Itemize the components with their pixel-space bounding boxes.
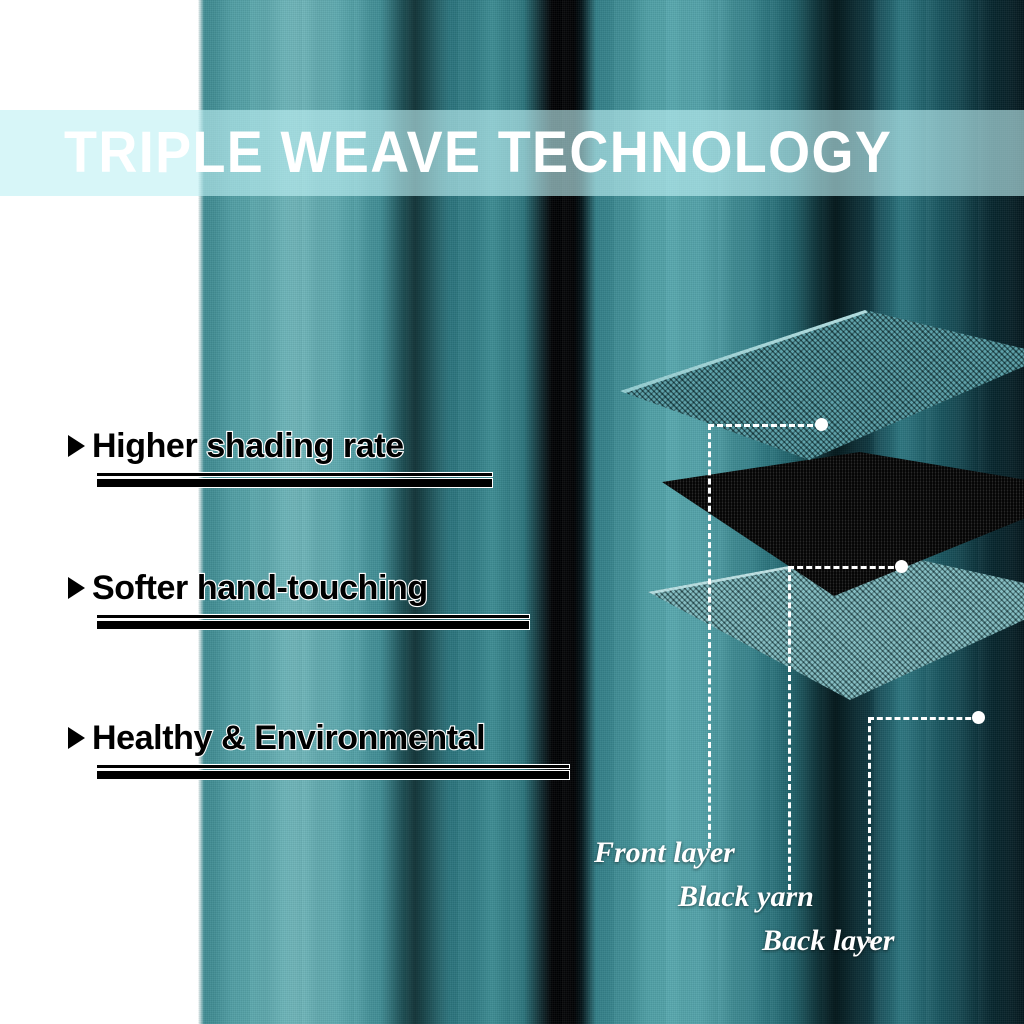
feature-underline <box>96 614 530 630</box>
feature-row: Healthy & Environmental <box>68 716 485 760</box>
feature-underline <box>96 764 570 780</box>
product-infographic: TRIPLE WEAVE TECHNOLOGY Higher shading r… <box>0 0 1024 1024</box>
back-layer-label: Back layer <box>762 924 894 958</box>
feature-label: Healthy & Environmental <box>92 719 485 758</box>
feature-row: Softer hand-touching <box>68 566 428 610</box>
front-layer-leader-vertical <box>708 424 711 848</box>
front-layer-label: Front layer <box>594 836 735 870</box>
feature-item-2: Softer hand-touching <box>68 566 428 610</box>
feature-row: Higher shading rate <box>68 424 404 468</box>
underline-thin <box>96 614 530 619</box>
underline-thin <box>96 472 493 477</box>
back-layer-leader-horizontal <box>868 717 980 720</box>
black-yarn-leader-horizontal <box>788 566 903 569</box>
underline-thick <box>96 620 530 630</box>
callout-dot-icon <box>815 418 828 431</box>
underline-thick <box>96 478 493 488</box>
back-layer-leader-vertical <box>868 717 871 943</box>
callout-dot-icon <box>895 560 908 573</box>
feature-underline <box>96 472 493 488</box>
feature-item-1: Higher shading rate <box>68 424 404 468</box>
fabric-layer-diagram <box>600 300 1024 860</box>
front-layer-leader-horizontal <box>708 424 822 427</box>
feature-label: Higher shading rate <box>92 427 404 466</box>
triangle-right-icon <box>68 577 85 599</box>
triangle-right-icon <box>68 435 85 457</box>
triangle-right-icon <box>68 727 85 749</box>
feature-label: Softer hand-touching <box>92 569 428 608</box>
black-yarn-leader-vertical <box>788 566 791 890</box>
callout-dot-icon <box>972 711 985 724</box>
front-layer-sheet <box>620 310 1024 460</box>
black-yarn-label: Black yarn <box>678 880 814 914</box>
feature-item-3: Healthy & Environmental <box>68 716 485 760</box>
underline-thick <box>96 770 570 780</box>
title-banner: TRIPLE WEAVE TECHNOLOGY <box>0 110 1024 196</box>
underline-thin <box>96 764 570 769</box>
page-title: TRIPLE WEAVE TECHNOLOGY <box>64 124 892 182</box>
